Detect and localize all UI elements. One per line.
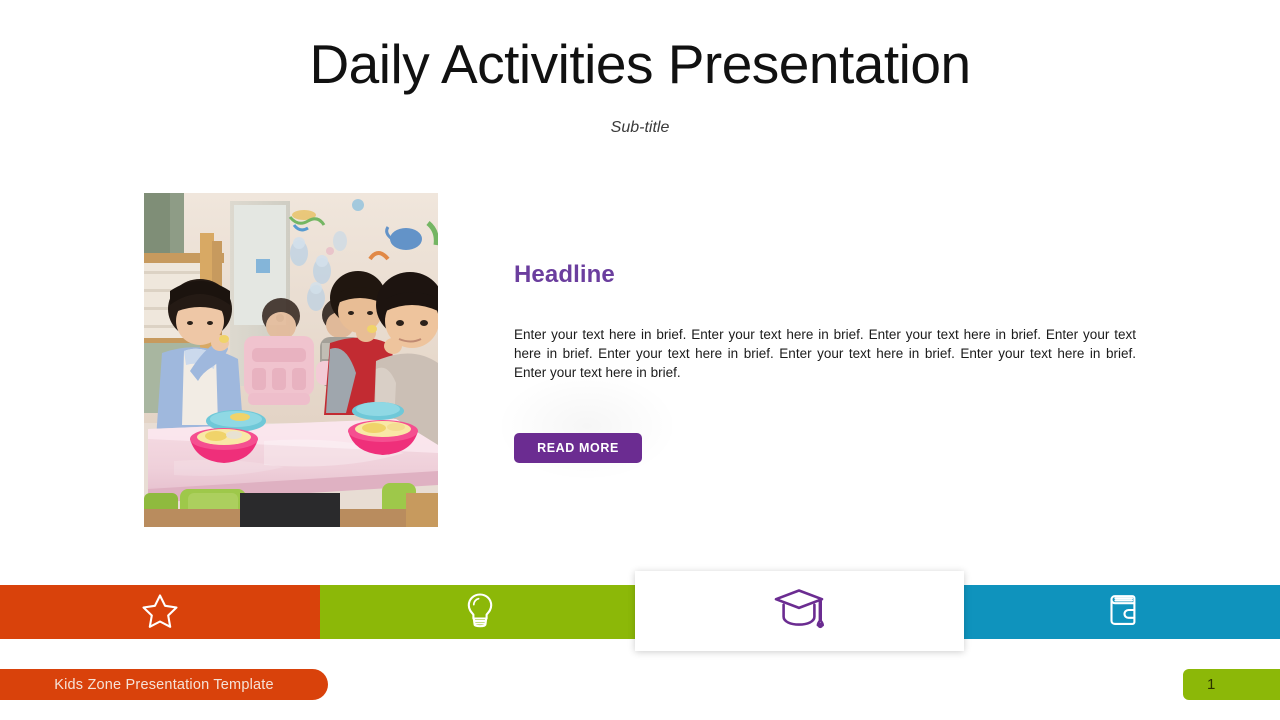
icon-segment-book[interactable] <box>965 585 1280 639</box>
icon-tile-active[interactable] <box>635 571 964 651</box>
page-subtitle: Sub-title <box>0 119 1280 137</box>
page-number-badge: 1 <box>1183 669 1280 700</box>
page-title: Daily Activities Presentation <box>0 32 1280 97</box>
icon-segment-lightbulb[interactable] <box>320 585 640 639</box>
footer-template-label: Kids Zone Presentation Template <box>54 677 274 693</box>
presentation-slide: Daily Activities Presentation Sub-title <box>0 0 1280 720</box>
content-headline: Headline <box>514 261 615 289</box>
graduation-cap-icon <box>773 585 827 638</box>
content-body-text: Enter your text here in brief. Enter you… <box>514 325 1136 382</box>
page-number-label: 1 <box>1207 676 1215 693</box>
lightbulb-icon <box>460 590 500 635</box>
star-icon <box>140 590 180 635</box>
content-glow <box>498 372 676 480</box>
footer-template-name: Kids Zone Presentation Template <box>0 669 328 700</box>
book-icon <box>1102 589 1144 636</box>
read-more-button[interactable]: READ MORE <box>514 433 642 463</box>
classroom-photo <box>144 193 438 527</box>
icon-segment-star[interactable] <box>0 585 320 639</box>
